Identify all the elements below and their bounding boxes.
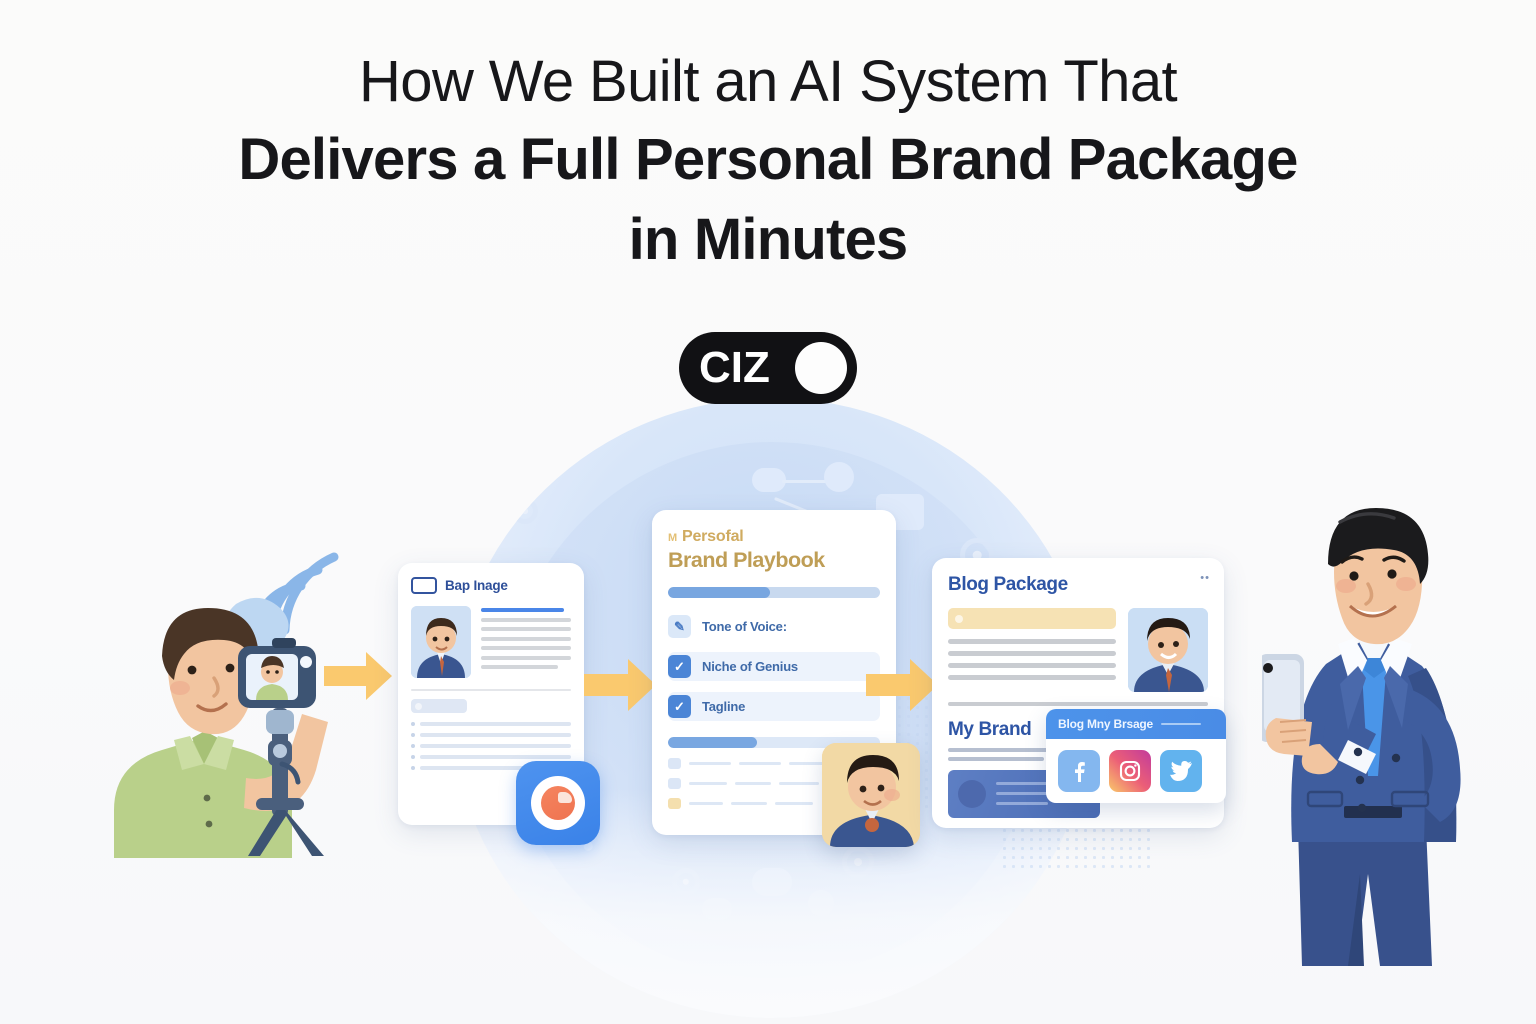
network-node (752, 468, 786, 492)
row-marker-icon (668, 798, 681, 809)
text-line (481, 646, 571, 650)
text-line (420, 733, 571, 737)
text-line (948, 675, 1116, 680)
card1-header: Bap Inage (411, 577, 571, 594)
text-line (420, 722, 571, 726)
text-line (948, 663, 1116, 668)
title-line-1: How We Built an AI System That (0, 44, 1536, 120)
camera-lens-app-icon[interactable] (516, 761, 600, 845)
bullet-icon (411, 766, 415, 770)
businessman-with-phone (1262, 506, 1512, 966)
list-item (411, 722, 571, 726)
twitter-icon[interactable] (1160, 750, 1202, 792)
card1-title: Bap Inage (445, 578, 508, 593)
social-icon-row (1046, 739, 1226, 803)
logo-pill-shape: CIZ (679, 332, 857, 404)
id-card-icon (411, 577, 437, 594)
card2-eyebrow-text: Persofal (682, 528, 744, 546)
belt (1344, 806, 1402, 818)
social-panel-header: Blog Mny Brsage (1046, 709, 1226, 739)
avatar (1128, 608, 1208, 692)
card3-title: Blog Package (948, 574, 1208, 596)
gear-icon (470, 476, 500, 506)
text-line (420, 755, 571, 759)
avatar (822, 743, 920, 847)
card2-eyebrow: M Persofal (668, 528, 880, 546)
check-icon: ✓ (668, 655, 691, 678)
network-node (824, 462, 854, 492)
pencil-icon: ✎ (668, 615, 691, 638)
gear-icon (512, 428, 556, 472)
title-line-3: in Minutes (0, 200, 1536, 280)
text-line (420, 744, 571, 748)
text-line (948, 639, 1116, 644)
card3-left-col (948, 608, 1116, 692)
text-line (481, 627, 571, 631)
text-line (481, 608, 564, 612)
text-line (735, 782, 771, 786)
bullet-icon (411, 744, 415, 748)
row-marker-icon (668, 778, 681, 789)
text-line (775, 802, 813, 806)
arrow-2 (582, 656, 658, 719)
logo-circle-o (795, 342, 847, 394)
avatar-placeholder-icon (958, 780, 986, 808)
highlight-bar (948, 608, 1116, 629)
text-line (481, 656, 571, 660)
row-marker-icon (668, 758, 681, 769)
card3-body (948, 608, 1208, 692)
list-item (411, 755, 571, 759)
text-line (689, 762, 731, 766)
suit-trousers (1298, 826, 1432, 966)
checklist-item[interactable]: ✎ Tone of Voice: (668, 612, 880, 641)
card-brand-playbook[interactable]: M Persofal Brand Playbook ✎ Tone of Voic… (652, 510, 896, 835)
text-line (731, 802, 767, 806)
facebook-icon[interactable] (1058, 750, 1100, 792)
card2-eyebrow-mark: M (668, 532, 677, 544)
bullet-icon (411, 755, 415, 759)
divider (948, 702, 1208, 706)
checklist-item[interactable]: ✓ Tagline (668, 692, 880, 721)
camera-icon (238, 638, 316, 708)
bullet-icon (411, 733, 415, 737)
checklist-item[interactable]: ✓ Niche of Genius (668, 652, 880, 681)
card1-body (411, 606, 571, 678)
lens-inner (541, 786, 575, 820)
divider (411, 689, 571, 691)
chip-dot-icon (415, 703, 422, 710)
bullet-icon (411, 722, 415, 726)
social-panel-title: Blog Mny Brsage (1058, 717, 1153, 731)
card3-text-lines (948, 639, 1116, 680)
list-item (411, 733, 571, 737)
arrow-3 (864, 656, 940, 719)
check-icon: ✓ (668, 695, 691, 718)
network-line (782, 480, 828, 483)
lens-outer (531, 776, 585, 830)
card2-checklist: ✎ Tone of Voice: ✓ Niche of Genius ✓ Tag… (668, 612, 880, 721)
text-line (481, 618, 571, 622)
title-line-2: Delivers a Full Personal Brand Package (0, 120, 1536, 200)
page-title: How We Built an AI System That Delivers … (0, 44, 1536, 280)
list-item (411, 744, 571, 748)
text-line (779, 782, 819, 786)
avatar (411, 606, 471, 678)
text-line (739, 762, 781, 766)
text-line (689, 782, 727, 786)
social-share-panel[interactable]: Blog Mny Brsage (1046, 709, 1226, 803)
logo-text: CIZ (699, 346, 770, 390)
card1-chip (411, 699, 467, 713)
progress-bar (668, 587, 880, 598)
poster-canvas: How We Built an AI System That Delivers … (0, 0, 1536, 1024)
header-line (1161, 723, 1201, 725)
arrow-1 (322, 648, 394, 709)
card2-title: Brand Playbook (668, 548, 880, 573)
more-options-icon[interactable]: •• (1200, 572, 1210, 584)
text-line (481, 637, 571, 641)
instagram-icon[interactable] (1109, 750, 1151, 792)
card1-text-lines (481, 606, 571, 678)
text-line (948, 651, 1116, 656)
card-brand-image[interactable]: Bap Inage (398, 563, 584, 825)
brand-logo: CIZ (679, 332, 857, 404)
text-line (481, 665, 558, 669)
text-line (689, 802, 723, 806)
gear-icon (512, 498, 538, 524)
checklist-label: Niche of Genius (702, 659, 798, 674)
checklist-label: Tone of Voice: (702, 619, 787, 634)
checklist-label: Tagline (702, 699, 745, 714)
businessman-illustration-svg (1262, 506, 1512, 966)
